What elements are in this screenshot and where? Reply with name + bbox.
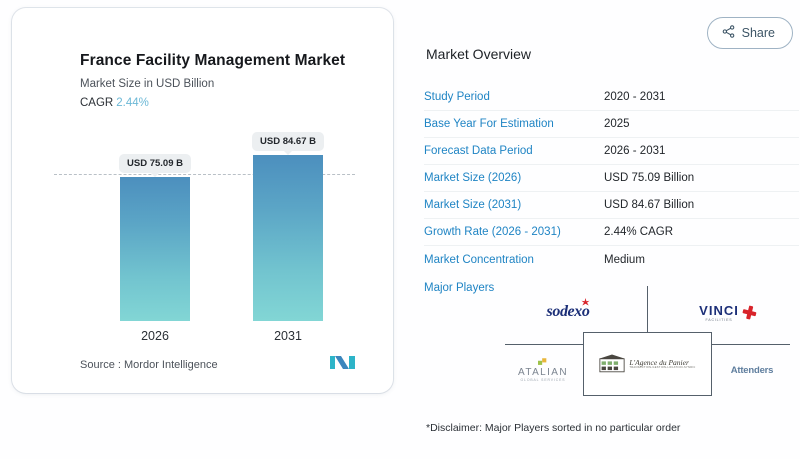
share-button[interactable]: Share <box>707 17 793 49</box>
logo-attenders: Attenders <box>714 350 790 390</box>
row-value: USD 84.67 Billion <box>604 199 694 211</box>
connector-line-right <box>712 344 790 345</box>
vinci-subtitle: FACILITIES <box>706 318 733 322</box>
logo-agence-du-panier: L'Agence du Panier TRANSACTION-GESTION-L… <box>583 332 712 396</box>
bar-chart-plot: USD 75.09 B 2026 USD 84.67 B 2031 <box>32 128 377 343</box>
major-players-label: Major Players <box>424 282 494 294</box>
mordor-intelligence-logo <box>330 355 356 375</box>
major-players-diagram: sodexo VINCI FACILITIES <box>505 286 790 396</box>
panel-title: Market Overview <box>426 46 531 62</box>
logo-atalian: ATALIAN GLOBAL SERVICES <box>505 350 581 390</box>
row-value: Medium <box>604 254 645 266</box>
building-icon <box>599 354 625 374</box>
market-overview-panel: Share Market Overview Study Period 2020 … <box>410 0 800 459</box>
logo-sodexo: sodexo <box>513 292 623 332</box>
cagr-label: CAGR <box>80 97 113 109</box>
x-tick-label-2031: 2031 <box>245 329 331 343</box>
table-row: Market Size (2026) USD 75.09 Billion <box>424 165 799 192</box>
chart-card: France Facility Management Market Market… <box>12 8 393 393</box>
row-value: 2025 <box>604 118 630 130</box>
table-row: Market Concentration Medium <box>424 246 799 273</box>
row-label: Study Period <box>424 91 604 103</box>
row-label: Base Year For Estimation <box>424 118 604 130</box>
atalian-subtitle: GLOBAL SERVICES <box>521 378 566 382</box>
source-label: Source : Mordor Intelligence <box>80 359 218 371</box>
atalian-mark-icon <box>538 358 548 366</box>
agence-subtitle: TRANSACTION-GESTION-LOCATION-SYNDIC <box>629 366 695 369</box>
table-row: Market Size (2031) USD 84.67 Billion <box>424 192 799 219</box>
bar-2026[interactable] <box>120 177 190 321</box>
vinci-cross-icon <box>742 305 757 320</box>
share-icon <box>722 25 735 41</box>
row-label: Market Concentration <box>424 254 604 266</box>
row-value: USD 75.09 Billion <box>604 172 694 184</box>
bar-value-tooltip: USD 84.67 B <box>252 132 324 151</box>
row-label: Forecast Data Period <box>424 145 604 157</box>
chart-title: France Facility Management Market <box>80 52 345 70</box>
share-button-label: Share <box>742 26 775 40</box>
atalian-wordmark: ATALIAN <box>518 367 568 378</box>
logo-vinci-facilities: VINCI FACILITIES <box>673 292 783 332</box>
market-snapshot-page: France Facility Management Market Market… <box>0 0 800 459</box>
vinci-wordmark: VINCI <box>699 303 739 318</box>
source-row: Source : Mordor Intelligence <box>80 355 370 375</box>
row-value: 2026 - 2031 <box>604 145 665 157</box>
row-label: Growth Rate (2026 - 2031) <box>424 226 604 238</box>
chart-subtitle: Market Size in USD Billion <box>80 78 214 90</box>
connector-line-left <box>505 344 583 345</box>
table-row: Forecast Data Period 2026 - 2031 <box>424 138 799 165</box>
row-label: Market Size (2026) <box>424 172 604 184</box>
row-label: Market Size (2031) <box>424 199 604 211</box>
bar-2031[interactable] <box>253 155 323 321</box>
table-row: Study Period 2020 - 2031 <box>424 84 799 111</box>
row-value: 2020 - 2031 <box>604 91 665 103</box>
disclaimer-text: *Disclaimer: Major Players sorted in no … <box>426 422 680 434</box>
row-value: 2.44% CAGR <box>604 226 673 238</box>
cagr-value: 2.44% <box>113 97 149 109</box>
cagr-line: CAGR2.44% <box>80 97 149 109</box>
table-row: Growth Rate (2026 - 2031) 2.44% CAGR <box>424 219 799 246</box>
table-row: Base Year For Estimation 2025 <box>424 111 799 138</box>
bar-value-tooltip: USD 75.09 B <box>119 154 191 173</box>
x-tick-label-2026: 2026 <box>112 329 198 343</box>
overview-table: Study Period 2020 - 2031 Base Year For E… <box>424 84 799 273</box>
sodexo-star-icon <box>581 298 590 307</box>
attenders-wordmark: Attenders <box>731 365 774 376</box>
